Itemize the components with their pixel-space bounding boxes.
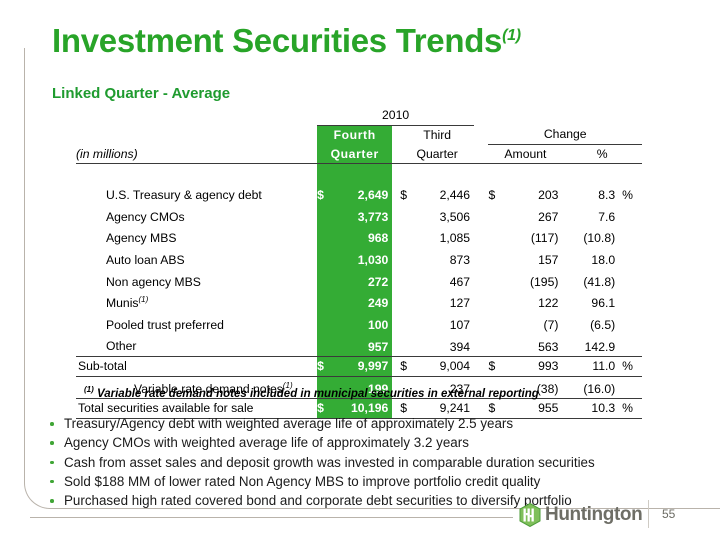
row-q4-value: 2,649 [331, 183, 392, 205]
spacer-cell [474, 313, 488, 335]
row-label: Auto loan ABS [76, 248, 317, 270]
row-q3-value: 394 [414, 334, 474, 356]
table-row: Auto loan ABS 1,030 873 157 18.0 [76, 248, 642, 270]
subtotal-q3-value: 9,004 [414, 357, 474, 377]
row-q3-currency [400, 226, 414, 248]
row-q4-currency [317, 205, 331, 227]
row-percent-value: 8.3 [562, 183, 617, 205]
row-percent-value: (10.8) [562, 226, 617, 248]
row-label-text: Agency CMOs [106, 210, 185, 224]
spacer-cell [392, 183, 400, 205]
table-row: U.S. Treasury & agency debt $ 2,649 $ 2,… [76, 183, 642, 205]
table-header-line1: Fourth Third Change [76, 125, 642, 144]
spacer-cell [474, 357, 488, 377]
row-label-text: Munis [106, 296, 139, 310]
spacer-cell [474, 144, 488, 164]
row-percent-symbol [617, 205, 642, 227]
row-q3-currency: $ [400, 183, 414, 205]
spacer-cell [76, 164, 317, 183]
row-amount-value: 203 [503, 183, 563, 205]
row-amount-value: (117) [503, 226, 563, 248]
row-percent-symbol [617, 270, 642, 292]
row-q3-value: 2,446 [414, 183, 474, 205]
spacer-cell [76, 106, 317, 125]
header-change: Change [488, 125, 642, 144]
row-q4-currency [317, 270, 331, 292]
page-number: 55 [662, 507, 675, 521]
page-title-superscript: (1) [502, 27, 521, 44]
row-amount-currency [488, 270, 502, 292]
row-label-text: Auto loan ABS [106, 253, 185, 267]
subtotal-label: Sub-total [76, 357, 317, 377]
row-amount-value: (195) [503, 270, 563, 292]
spacer-cell [474, 248, 488, 270]
spacer-cell [392, 125, 400, 144]
row-label: Munis(1) [76, 291, 317, 313]
row-percent-value: 142.9 [562, 334, 617, 356]
row-label: Agency MBS [76, 226, 317, 248]
row-percent-value: 7.6 [562, 205, 617, 227]
row-q3-value: 873 [414, 248, 474, 270]
spacer-cell [76, 125, 317, 144]
table-spacer-row [76, 164, 642, 183]
row-label-text: Other [106, 340, 136, 354]
row-amount-currency [488, 334, 502, 356]
row-q3-currency [400, 334, 414, 356]
spacer-cell [392, 313, 400, 335]
table-row: Pooled trust preferred 100 107 (7) (6.5) [76, 313, 642, 335]
row-percent-value: (6.5) [562, 313, 617, 335]
table-row: Munis(1) 249 127 122 96.1 [76, 291, 642, 313]
list-item: Treasury/Agency debt with weighted avera… [46, 414, 646, 433]
spacer-cell [474, 270, 488, 292]
row-q4-value: 100 [331, 313, 392, 335]
row-q3-value: 3,506 [414, 205, 474, 227]
row-q4-value: 968 [331, 226, 392, 248]
row-amount-currency [488, 205, 502, 227]
subtotal-percent-symbol: % [617, 357, 642, 377]
spacer-cell [392, 334, 400, 356]
spacer-cell [474, 334, 488, 356]
row-percent-value: 18.0 [562, 248, 617, 270]
row-q4-currency: $ [317, 183, 331, 205]
spacer-cell [474, 183, 488, 205]
header-year: 2010 [317, 106, 474, 125]
row-q4-currency [317, 334, 331, 356]
page-number-divider [648, 500, 649, 528]
spacer-cell [392, 144, 400, 164]
row-q3-currency [400, 291, 414, 313]
row-label: Non agency MBS [76, 270, 317, 292]
table-row: Other 957 394 563 142.9 [76, 334, 642, 356]
row-amount-value: 563 [503, 334, 563, 356]
row-q3-value: 1,085 [414, 226, 474, 248]
spacer-cell [474, 106, 488, 125]
table-row: Non agency MBS 272 467 (195) (41.8) [76, 270, 642, 292]
subtotal-q4-currency: $ [317, 357, 331, 377]
spacer-cell [392, 226, 400, 248]
securities-table: 2010 Fourth Third Change (in millions) Q… [76, 106, 642, 419]
row-amount-value: (7) [503, 313, 563, 335]
row-q3-value: 127 [414, 291, 474, 313]
page-title-text: Investment Securities Trends [52, 22, 502, 59]
footnote-marker: (1) [84, 385, 94, 394]
spacer-cell [392, 291, 400, 313]
vrdn-percent-value: (16.0) [562, 376, 617, 399]
slide-root: Investment Securities Trends(1) Linked Q… [0, 0, 720, 540]
row-q4-value: 249 [331, 291, 392, 313]
row-percent-symbol [617, 313, 642, 335]
row-amount-value: 122 [503, 291, 563, 313]
row-q3-currency [400, 270, 414, 292]
spacer-cell [474, 125, 488, 144]
row-q4-currency [317, 226, 331, 248]
spacer-cell [392, 248, 400, 270]
row-label-text: U.S. Treasury & agency debt [106, 188, 262, 202]
row-percent-symbol [617, 248, 642, 270]
row-q3-value: 467 [414, 270, 474, 292]
row-q3-currency [400, 313, 414, 335]
row-label: U.S. Treasury & agency debt [76, 183, 317, 205]
table-header-line2: (in millions) Quarter Quarter Amount % [76, 144, 642, 164]
row-q4-currency [317, 291, 331, 313]
row-q3-currency [400, 205, 414, 227]
table-row: Agency CMOs 3,773 3,506 267 7.6 [76, 205, 642, 227]
page-subtitle: Linked Quarter - Average [52, 85, 230, 102]
row-percent-symbol [617, 291, 642, 313]
row-percent-symbol [617, 226, 642, 248]
row-label-text: Pooled trust preferred [106, 318, 224, 332]
list-item: Cash from asset sales and deposit growth… [46, 453, 646, 472]
footnote-text: Variable rate demand notes included in m… [97, 388, 539, 400]
row-amount-currency: $ [488, 183, 502, 205]
row-q4-value: 3,773 [331, 205, 392, 227]
header-fourth-quarter-l1: Fourth [317, 125, 392, 144]
row-q4-value: 1,030 [331, 248, 392, 270]
row-amount-currency [488, 313, 502, 335]
header-third-quarter-l1: Third [400, 125, 474, 144]
subtotal-q4-value: 9,997 [331, 357, 392, 377]
row-amount-currency [488, 248, 502, 270]
spacer-cell [392, 164, 642, 183]
row-label-note: (1) [139, 295, 149, 304]
spacer-cell [392, 270, 400, 292]
spacer-cell [474, 205, 488, 227]
row-amount-currency [488, 291, 502, 313]
spacer-cell [474, 291, 488, 313]
row-amount-value: 267 [503, 205, 563, 227]
spacer-cell [392, 357, 400, 377]
spacer-cell-green [317, 164, 392, 183]
row-label-text: Agency MBS [106, 231, 176, 245]
brand-name: Huntington [545, 504, 642, 526]
row-label-text: Non agency MBS [106, 275, 201, 289]
bullet-list: Treasury/Agency debt with weighted avera… [46, 414, 646, 510]
spacer-cell [488, 106, 642, 125]
row-percent-symbol [617, 334, 642, 356]
footer-divider [30, 517, 513, 518]
row-percent-value: 96.1 [562, 291, 617, 313]
list-item: Sold $188 MM of lower rated Non Agency M… [46, 472, 646, 491]
subtotal-amount-value: 993 [503, 357, 563, 377]
header-amount: Amount [488, 144, 562, 164]
row-label: Agency CMOs [76, 205, 317, 227]
row-q4-currency [317, 313, 331, 335]
row-amount-value: 157 [503, 248, 563, 270]
spacer-cell [474, 226, 488, 248]
row-q4-currency [317, 248, 331, 270]
page-title: Investment Securities Trends(1) [52, 22, 521, 60]
header-fourth-quarter-l2: Quarter [317, 144, 392, 164]
table-subtotal-row: Sub-total $ 9,997 $ 9,004 $ 993 11.0 % [76, 357, 642, 377]
row-q3-value: 107 [414, 313, 474, 335]
list-item: Agency CMOs with weighted average life o… [46, 433, 646, 452]
brand-logo: Huntington [519, 503, 642, 527]
row-percent-symbol: % [617, 183, 642, 205]
header-percent: % [562, 144, 642, 164]
table-header-year-row: 2010 [76, 106, 642, 125]
header-units-label: (in millions) [76, 144, 317, 164]
subtotal-amount-currency: $ [488, 357, 502, 377]
header-third-quarter-l2: Quarter [400, 144, 474, 164]
spacer-cell [392, 205, 400, 227]
securities-table-wrapper: 2010 Fourth Third Change (in millions) Q… [76, 106, 642, 419]
vrdn-percent-symbol [617, 376, 642, 399]
row-label: Pooled trust preferred [76, 313, 317, 335]
row-amount-currency [488, 226, 502, 248]
row-label: Other [76, 334, 317, 356]
huntington-hexagon-logo-icon [519, 503, 541, 527]
row-q4-value: 957 [331, 334, 392, 356]
table-footnote: (1) Variable rate demand notes included … [84, 385, 539, 400]
row-q3-currency [400, 248, 414, 270]
row-q4-value: 272 [331, 270, 392, 292]
table-row: Agency MBS 968 1,085 (117) (10.8) [76, 226, 642, 248]
subtotal-percent-value: 11.0 [562, 357, 617, 377]
subtotal-q3-currency: $ [400, 357, 414, 377]
row-percent-value: (41.8) [562, 270, 617, 292]
